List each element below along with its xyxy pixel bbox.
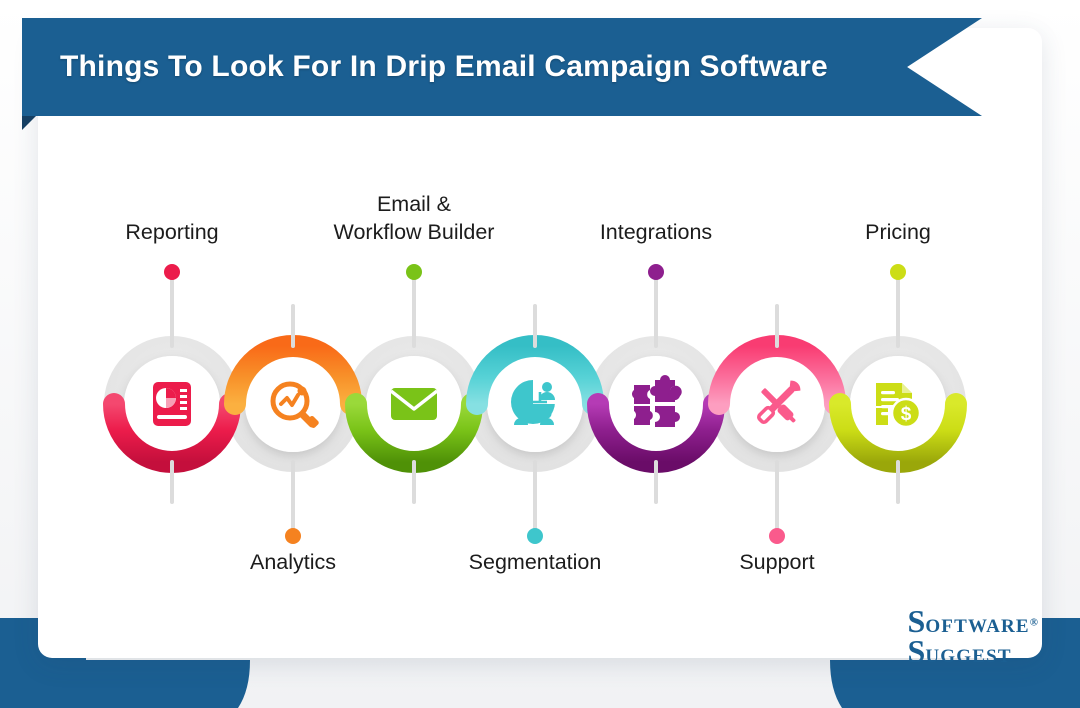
dot-pricing xyxy=(890,264,906,280)
dot-analytics xyxy=(285,528,301,544)
label-email-workflow: Email & Workflow Builder xyxy=(334,190,495,246)
dot-email-workflow xyxy=(406,264,422,280)
softwaresuggest-logo: SOFTWARE® SUGGEST xyxy=(908,607,1038,666)
envelope-icon xyxy=(391,388,437,420)
label-pricing: Pricing xyxy=(865,218,931,246)
svg-text:$: $ xyxy=(901,404,912,425)
logo-line2-capital: S xyxy=(908,633,926,669)
label-reporting: Reporting xyxy=(125,218,218,246)
ribbon-fold xyxy=(22,114,38,130)
dot-integrations xyxy=(648,264,664,280)
logo-line1-rest: OFTWARE xyxy=(925,616,1029,637)
report-pie-document-icon xyxy=(153,382,191,426)
infographic-canvas: Things To Look For In Drip Email Campaig… xyxy=(0,0,1080,708)
label-analytics: Analytics xyxy=(250,548,336,576)
dot-reporting xyxy=(164,264,180,280)
registered-trademark-icon: ® xyxy=(1030,617,1038,629)
title-ribbon: Things To Look For In Drip Email Campaig… xyxy=(22,18,982,128)
dot-support xyxy=(769,528,785,544)
label-support: Support xyxy=(739,548,814,576)
dot-segmentation xyxy=(527,528,543,544)
page-title: Things To Look For In Drip Email Campaig… xyxy=(60,18,828,116)
label-segmentation: Segmentation xyxy=(469,548,602,576)
label-integrations: Integrations xyxy=(600,218,712,246)
logo-line2-rest: UGGEST xyxy=(925,646,1011,667)
